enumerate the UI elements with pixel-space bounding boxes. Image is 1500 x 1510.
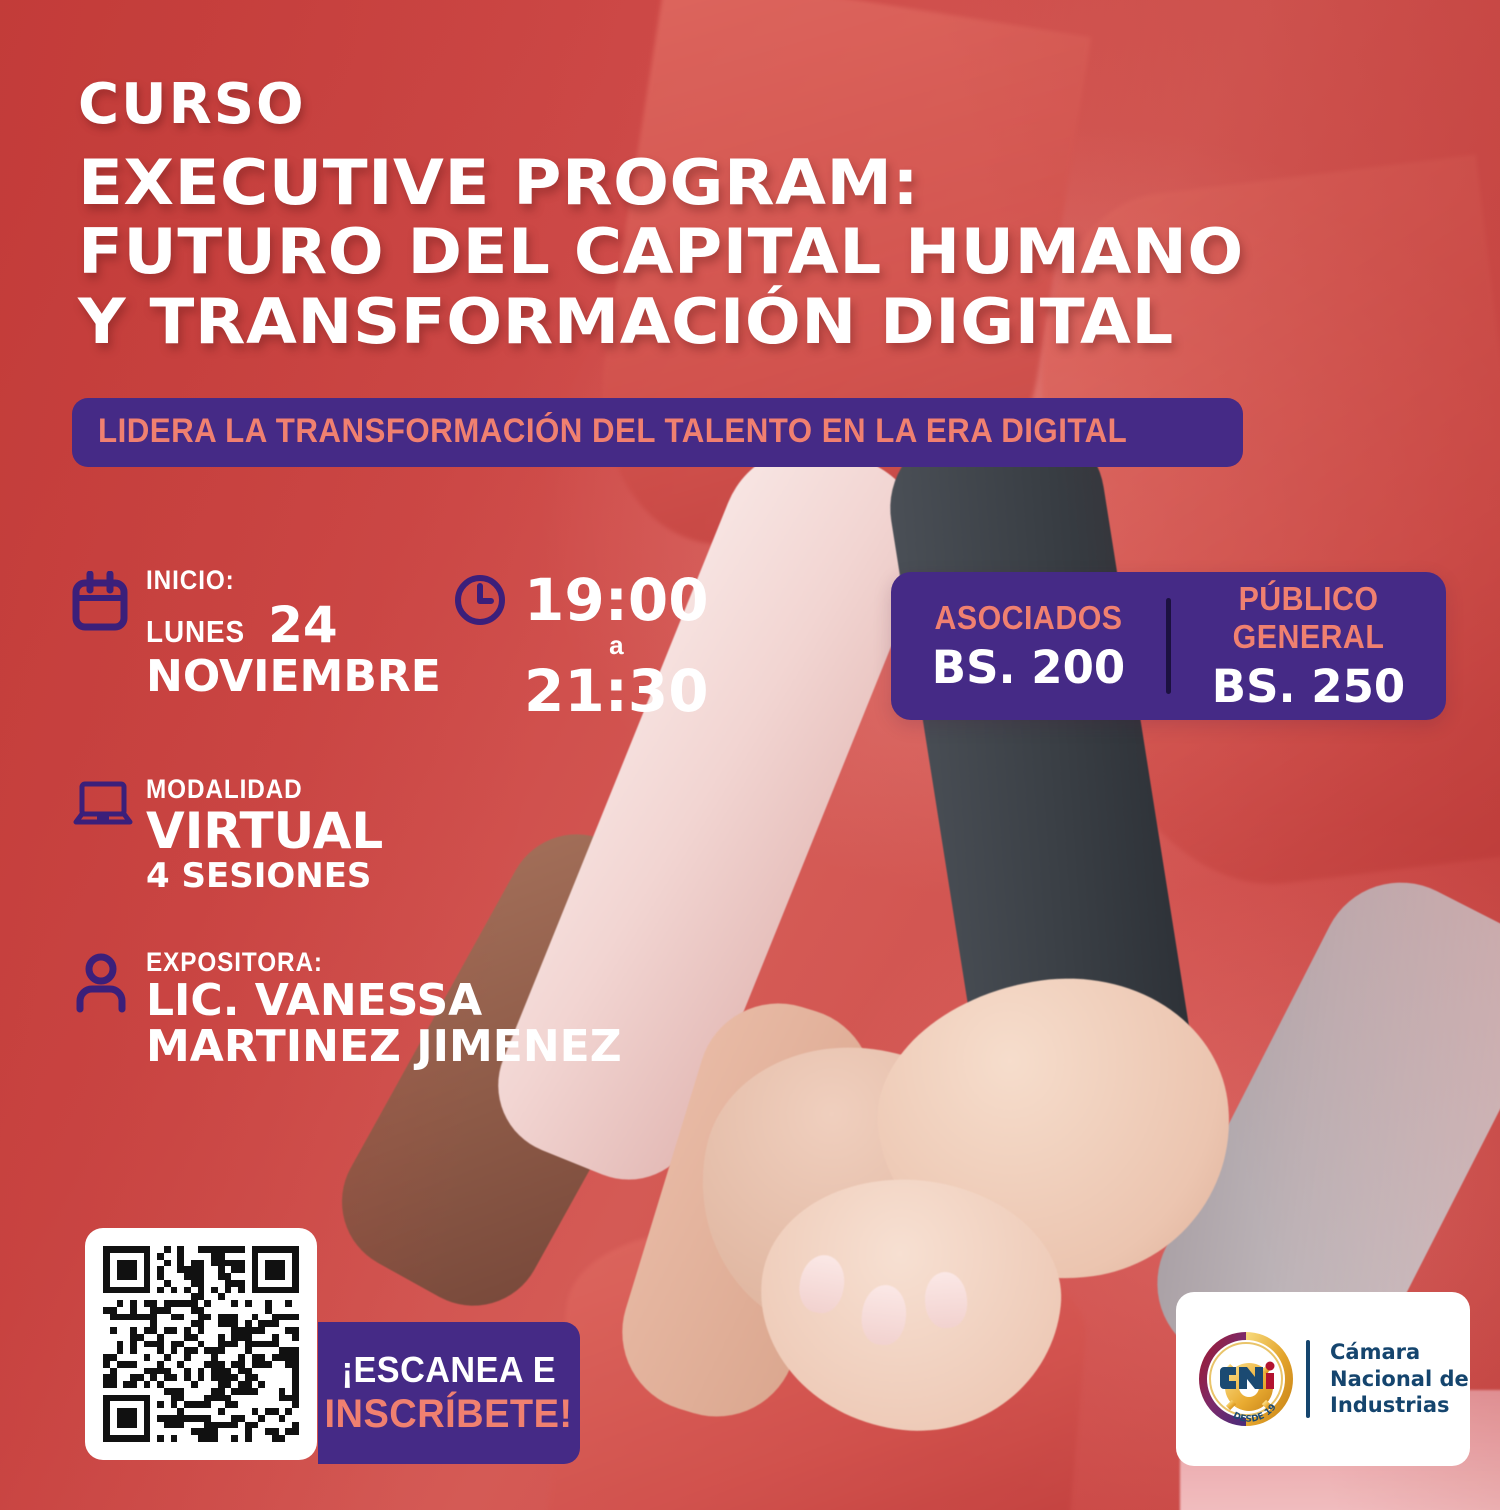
detail-row-time: 19:00 a 21:30 bbox=[452, 572, 709, 719]
subtitle-banner: LIDERA LA TRANSFORMACIÓN DEL TALENTO EN … bbox=[72, 398, 1243, 467]
speaker-name-line-2: MARTINEZ JIMENEZ bbox=[146, 1024, 622, 1070]
cni-gear-emblem-icon: DESDE 1931 bbox=[1198, 1331, 1294, 1427]
title-line-3: Y TRANSFORMACIÓN DIGITAL bbox=[78, 287, 1382, 356]
qr-code-icon[interactable] bbox=[103, 1246, 299, 1442]
date-day-word: LUNES bbox=[146, 614, 245, 650]
clock-icon bbox=[452, 572, 508, 633]
detail-row-speaker: EXPOSITORA: LIC. VANESSA MARTINEZ JIMENE… bbox=[72, 947, 892, 1070]
page-title: EXECUTIVE PROGRAM: FUTURO DEL CAPITAL HU… bbox=[78, 148, 1382, 356]
pricing-card: ASOCIADOS BS. 200 PÚBLICO GENERAL BS. 25… bbox=[891, 572, 1446, 720]
price-associates-value: BS. 200 bbox=[897, 641, 1160, 694]
logo-name-line-1: Cámara bbox=[1330, 1339, 1469, 1366]
time-start: 19:00 bbox=[524, 572, 709, 629]
qr-code-box[interactable] bbox=[85, 1228, 317, 1460]
date-value: LUNES 24 bbox=[146, 596, 441, 654]
speaker-name-line-1: LIC. VANESSA bbox=[146, 978, 622, 1024]
price-general-value: BS. 250 bbox=[1177, 660, 1440, 713]
modality-label: MODALIDAD bbox=[146, 774, 360, 805]
laptop-icon bbox=[72, 774, 146, 832]
cta-line-1: ¡ESCANEA E bbox=[342, 1349, 556, 1390]
title-line-1: EXECUTIVE PROGRAM: bbox=[78, 148, 1382, 217]
logo-organization-name: Cámara Nacional de Industrias bbox=[1330, 1339, 1469, 1420]
date-month: NOVIEMBRE bbox=[146, 654, 441, 700]
calendar-icon bbox=[72, 565, 146, 633]
detail-row-modality: MODALIDAD VIRTUAL 4 SESIONES bbox=[72, 774, 892, 895]
modality-value: VIRTUAL bbox=[146, 805, 383, 858]
price-general: PÚBLICO GENERAL BS. 250 bbox=[1171, 580, 1446, 713]
date-day-number: 24 bbox=[268, 596, 338, 654]
page-kicker: CURSO bbox=[78, 72, 306, 137]
date-label: INICIO: bbox=[146, 565, 411, 596]
event-flyer: CURSO EXECUTIVE PROGRAM: FUTURO DEL CAPI… bbox=[0, 0, 1500, 1510]
subtitle-text: LIDERA LA TRANSFORMACIÓN DEL TALENTO EN … bbox=[98, 412, 1127, 451]
price-associates: ASOCIADOS BS. 200 bbox=[891, 599, 1166, 694]
cta-line-2: INSCRÍBETE! bbox=[325, 1391, 573, 1437]
scan-cta-banner[interactable]: ¡ESCANEA E INSCRÍBETE! bbox=[318, 1322, 580, 1464]
logo-name-line-2: Nacional de bbox=[1330, 1366, 1469, 1393]
organization-logo-card: DESDE 1931 Cámara Nacional de Industrias bbox=[1176, 1292, 1470, 1466]
price-general-label: PÚBLICO GENERAL bbox=[1188, 580, 1430, 656]
modality-sessions: 4 SESIONES bbox=[146, 858, 383, 895]
logo-divider bbox=[1306, 1340, 1310, 1418]
person-icon bbox=[72, 947, 146, 1015]
price-associates-label: ASOCIADOS bbox=[908, 599, 1150, 637]
logo-name-line-3: Industrias bbox=[1330, 1392, 1469, 1419]
time-end: 21:30 bbox=[524, 663, 709, 720]
title-line-2: FUTURO DEL CAPITAL HUMANO bbox=[78, 217, 1382, 286]
speaker-label: EXPOSITORA: bbox=[146, 947, 574, 978]
